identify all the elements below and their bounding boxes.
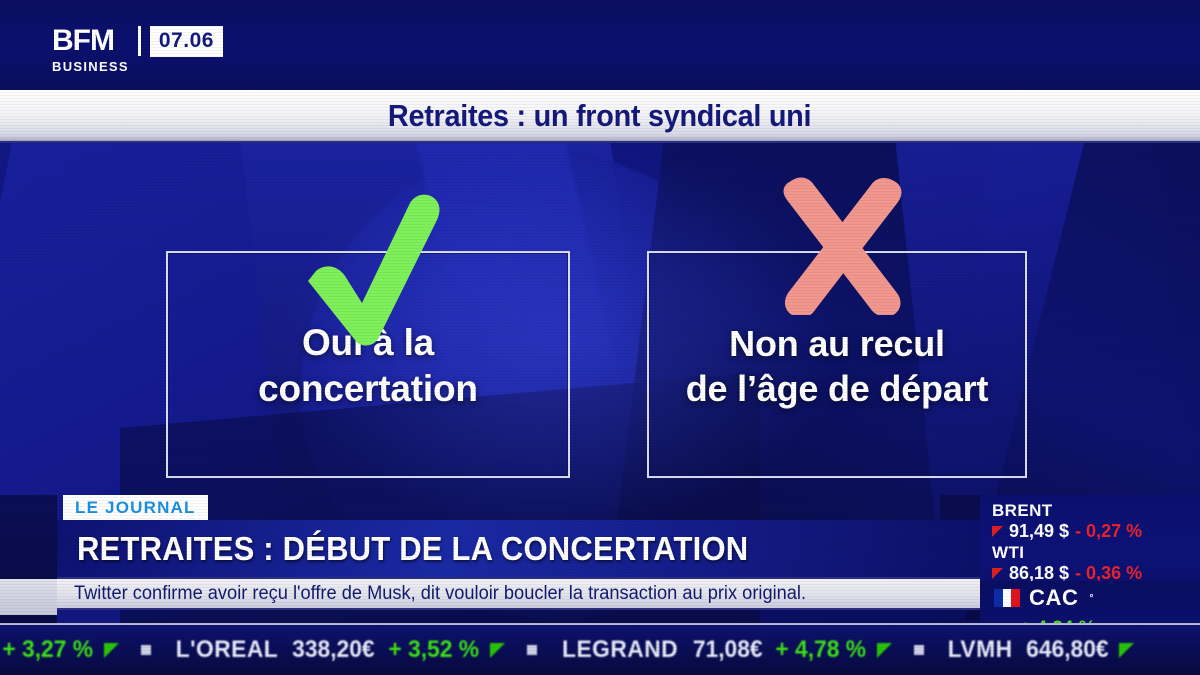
ticker-price-3: 646,80€ [1026, 636, 1108, 664]
ticker-separator [527, 645, 537, 655]
clock-display: 07.06 [150, 26, 223, 57]
le-journal-badge: LE JOURNAL [63, 495, 208, 522]
choice-box-oui-label: Oui à la concertation [168, 319, 568, 413]
cac-superscript: ° [1089, 593, 1093, 604]
choice-oui-line1: Oui à la [168, 319, 568, 366]
quote-wti: WTI 86,18 $ - 0,36 % [992, 543, 1200, 584]
ticker-price-1: 338,20€ [292, 636, 374, 664]
arrow-up-icon [490, 643, 505, 658]
lower-third: LE JOURNAL RETRAITES : DÉBUT DE LA CONCE… [57, 495, 980, 623]
quote-wti-name: WTI [992, 543, 1200, 562]
quote-brent-row: 91,49 $ - 0,27 % [992, 520, 1200, 542]
subline-text: Twitter confirme avoir reçu l'offre de M… [74, 583, 806, 605]
choice-oui-line2: concertation [168, 366, 568, 413]
broadcast-screen: BFM BUSINESS 07.06 Retraites : un front … [0, 0, 1200, 675]
ticker-item: LVMH 646,80€ [946, 636, 1134, 664]
headline-text: RETRAITES : DÉBUT DE LA CONCERTATION [77, 530, 748, 568]
ticker-name-1: L'OREAL [176, 636, 278, 664]
ticker-name-2: LEGRAND [563, 636, 679, 664]
logo-business-text: BUSINESS [52, 58, 129, 75]
arrow-up-icon [877, 643, 892, 658]
france-flag-icon [994, 589, 1020, 607]
quote-brent-name: BRENT [992, 501, 1200, 520]
ticker-item: LEGRAND 71,08€ + 4,78 % [559, 636, 892, 664]
quote-brent-change: - 0,27 % [1075, 520, 1142, 542]
ticker-change-2: + 4,78 % [775, 636, 866, 664]
cac-header: CAC ° [994, 585, 1200, 611]
ticker-separator [914, 645, 924, 655]
choice-non-line1: Non au recul [649, 321, 1025, 367]
ticker-separator [141, 645, 151, 655]
headline-bar: RETRAITES : DÉBUT DE LA CONCERTATION [57, 520, 980, 577]
ticker-item: + 3,27 % [0, 636, 119, 664]
arrow-up-icon [1119, 643, 1134, 658]
ticker-name-3: LVMH [948, 636, 1013, 664]
ticker-price-2: 71,08€ [692, 636, 762, 664]
title-strip: Retraites : un front syndical uni [0, 90, 1200, 143]
choice-box-oui: Oui à la concertation [166, 251, 570, 478]
logo-bfm-text: BFM [52, 26, 129, 56]
subline-bar: Twitter confirme avoir reçu l'offre de M… [57, 577, 980, 610]
logo-divider [138, 26, 141, 56]
stock-ticker-track: + 3,27 % L'OREAL 338,20€ + 3,52 % LEGRAN… [0, 625, 1200, 675]
logo-text-stack: BFM BUSINESS [52, 26, 129, 75]
channel-logo: BFM BUSINESS 07.06 [52, 26, 223, 75]
title-strip-text: Retraites : un front syndical uni [388, 98, 811, 134]
quote-brent: BRENT 91,49 $ - 0,27 % [992, 501, 1200, 542]
arrow-down-icon [992, 526, 1003, 537]
left-edge-strip [0, 579, 57, 615]
arrow-up-icon [104, 643, 119, 658]
ticker-item: L'OREAL 338,20€ + 3,52 % [173, 636, 505, 664]
quote-brent-value: 91,49 $ [1009, 520, 1069, 542]
choice-non-line2: de l’âge de départ [649, 366, 1025, 412]
arrow-down-icon [992, 568, 1003, 579]
le-journal-badge-text: LE JOURNAL [75, 498, 196, 517]
ticker-change-1: + 3,52 % [388, 636, 479, 664]
cac-label: CAC [1029, 585, 1078, 611]
ticker-change-0: + 3,27 % [2, 636, 93, 664]
choice-box-non-label: Non au recul de l’âge de départ [649, 321, 1025, 412]
choice-box-non: Non au recul de l’âge de départ [647, 251, 1027, 478]
stock-ticker: + 3,27 % L'OREAL 338,20€ + 3,52 % LEGRAN… [0, 623, 1200, 675]
